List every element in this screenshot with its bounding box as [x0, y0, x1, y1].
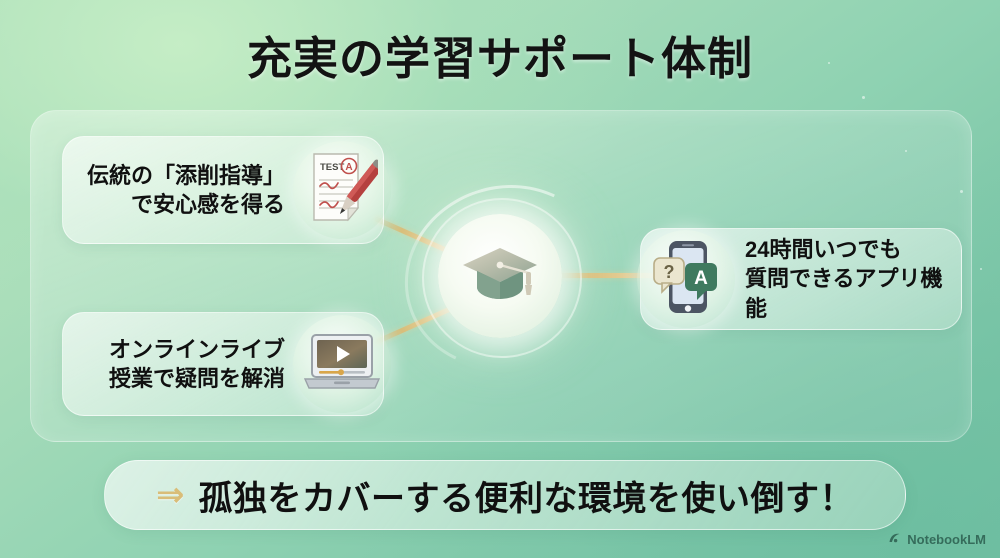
- slide-canvas: 充実の学習サポート体制: [0, 0, 1000, 558]
- svg-text:TEST: TEST: [320, 162, 344, 173]
- card-correction-guidance[interactable]: 伝統の「添削指導」 で安心感を得る TEST A: [62, 136, 384, 244]
- icon-bubble-live: [293, 315, 391, 413]
- test-paper-pen-icon: TEST A: [306, 150, 378, 231]
- svg-text:?: ?: [664, 262, 675, 282]
- card-correction-label: 伝統の「添削指導」 で安心感を得る: [63, 161, 291, 219]
- central-hub: [420, 196, 580, 356]
- card-app-label: 24時間いつでも 質問できるアプリ機能: [739, 235, 961, 322]
- conclusion-banner: ⇒ 孤独をカバーする便利な環境を使い倒す！: [104, 460, 906, 530]
- sparkle-dot: [862, 96, 865, 99]
- arrow-right-icon: ⇒: [156, 478, 185, 512]
- graduation-cap-icon: [461, 243, 539, 310]
- watermark: NotebookLM: [888, 531, 986, 548]
- watermark-label: NotebookLM: [907, 532, 986, 547]
- icon-bubble-correction: TEST A: [293, 141, 391, 239]
- icon-bubble-app: ? A: [637, 230, 735, 328]
- hub-core: [438, 214, 562, 338]
- card-live-label: オンラインライブ 授業で疑問を解消: [63, 335, 291, 393]
- notebooklm-logo-icon: [888, 531, 902, 548]
- sparkle-dot: [980, 268, 982, 270]
- svg-text:A: A: [345, 162, 352, 173]
- conclusion-text: 孤独をカバーする便利な環境を使い倒す！: [199, 471, 855, 520]
- smartphone-qa-icon: ? A: [651, 238, 721, 321]
- svg-text:A: A: [694, 268, 708, 289]
- card-online-live[interactable]: オンラインライブ 授業で疑問を解消: [62, 312, 384, 416]
- card-app-qa[interactable]: ? A 24時間いつでも 質問できるアプリ機能: [640, 228, 962, 330]
- page-title: 充実の学習サポート体制: [0, 22, 1000, 87]
- laptop-video-icon: [302, 331, 382, 398]
